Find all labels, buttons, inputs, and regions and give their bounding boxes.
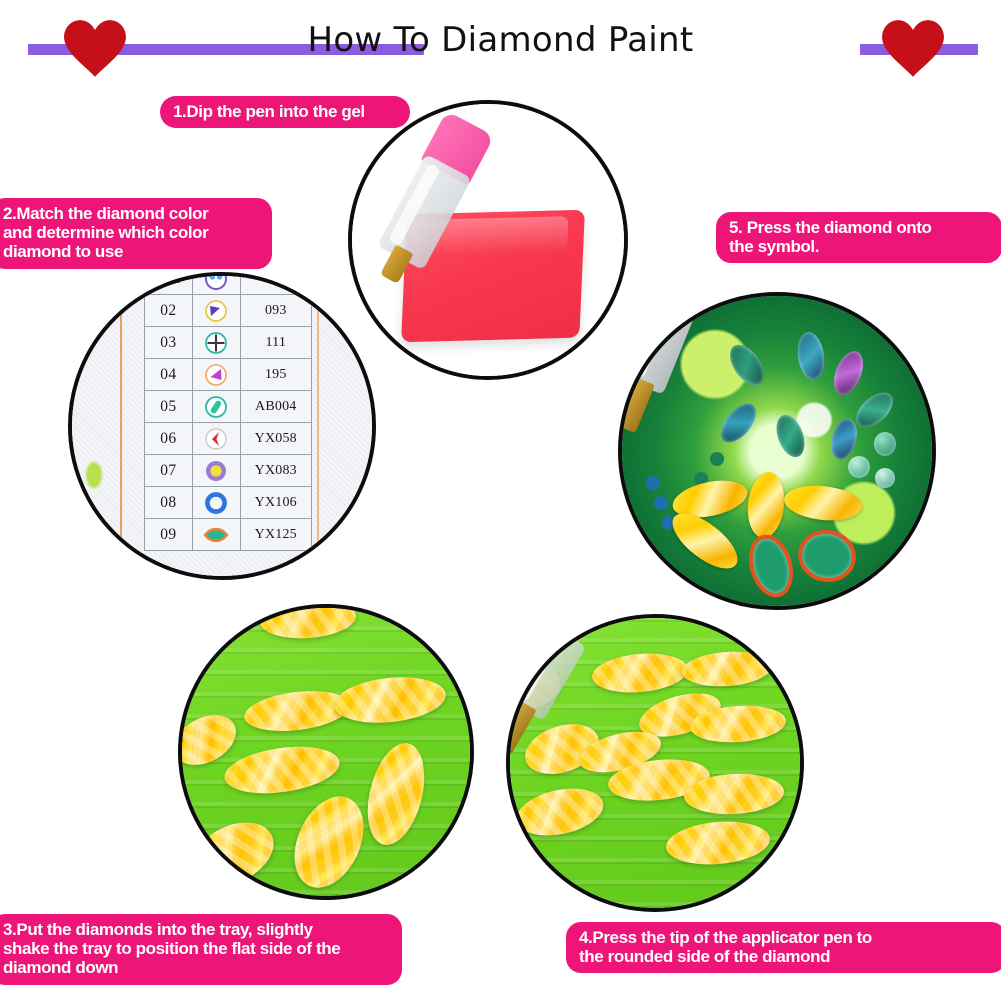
legend-code: YX125	[240, 519, 311, 551]
smiley-circle-symbol	[192, 272, 240, 295]
step-5-line-1: 5. Press the diamond onto	[729, 218, 989, 237]
legend-code: 195	[240, 359, 311, 391]
legend-code: 093	[240, 295, 311, 327]
diagonal-bar-in-circle-symbol	[192, 391, 240, 423]
rhinestone	[875, 468, 895, 488]
legend-code: YX083	[240, 455, 311, 487]
legend-index: 02x	[145, 272, 193, 295]
legend-index: 07	[145, 455, 193, 487]
rhinestone	[848, 456, 870, 478]
page-header: How To Diamond Paint	[0, 0, 1001, 86]
step-4-label: 4.Press the tip of the applicator pen to…	[566, 922, 1001, 973]
step-3-line-2: shake the tray to position the flat side…	[3, 939, 389, 958]
step-3-line-3: diamond down	[3, 958, 389, 977]
filled-donut-symbol	[192, 455, 240, 487]
printed-symbol-dot	[646, 476, 660, 490]
step-2-label: 2.Match the diamond color and determine …	[0, 198, 272, 269]
stray-diamond	[84, 522, 103, 541]
canvas-edge-line	[317, 276, 319, 576]
legend-code: 111	[240, 327, 311, 359]
table-row: 06 YX058	[145, 423, 312, 455]
yellow-diamond	[689, 703, 787, 746]
plus-in-circle-symbol	[192, 327, 240, 359]
step-4-line-1: 4.Press the tip of the applicator pen to	[579, 928, 993, 947]
step-2-line-1: 2.Match the diamond color	[3, 204, 259, 223]
step-2-line-3: diamond to use	[3, 242, 259, 261]
page-title: How To Diamond Paint	[0, 20, 1001, 60]
legend-code: 028	[240, 272, 311, 295]
step-3-label: 3.Put the diamonds into the tray, slight…	[0, 914, 402, 985]
left-chevron-symbol	[192, 423, 240, 455]
step-3-line-1: 3.Put the diamonds into the tray, slight…	[3, 920, 389, 939]
diamond-color-legend: 02x 028 02 093 03	[144, 272, 312, 551]
triangle-in-circle-symbol	[192, 295, 240, 327]
legend-index: 09	[145, 519, 193, 551]
legend-index: 04	[145, 359, 193, 391]
triangle-in-circle-symbol	[192, 359, 240, 391]
printed-symbol-dot	[654, 496, 668, 510]
diamonds-in-tray-photo	[178, 604, 474, 900]
printed-symbol-dot	[710, 452, 724, 466]
canvas-edge-line	[120, 276, 122, 576]
legend-index: 06	[145, 423, 193, 455]
pen-dipping-into-gel-photo	[348, 100, 628, 380]
legend-index: 05	[145, 391, 193, 423]
table-row: 05 AB004	[145, 391, 312, 423]
step-2-line-2: and determine which color	[3, 223, 259, 242]
table-row: 02 093	[145, 295, 312, 327]
ring-symbol	[192, 487, 240, 519]
step-4-line-2: the rounded side of the diamond	[579, 947, 993, 966]
yellow-diamond	[683, 771, 785, 816]
pen-metal-tip	[506, 701, 537, 756]
yellow-diamond	[681, 649, 773, 689]
placing-diamond-on-canvas-photo	[618, 292, 936, 610]
table-row: 09 YX125	[145, 519, 312, 551]
step-5-label: 5. Press the diamond onto the symbol.	[716, 212, 1001, 263]
legend-index: 08	[145, 487, 193, 519]
table-row: 04 195	[145, 359, 312, 391]
legend-code: YX058	[240, 423, 311, 455]
stray-diamond	[86, 462, 102, 488]
pen-metal-tip	[618, 378, 655, 433]
legend-code: AB004	[240, 391, 311, 423]
color-chart-photo: 02x 028 02 093 03	[68, 272, 376, 580]
table-row: 08 YX106	[145, 487, 312, 519]
step-5-line-2: the symbol.	[729, 237, 989, 256]
table-row: 03 111	[145, 327, 312, 359]
table-row: 07 YX083	[145, 455, 312, 487]
table-row: 02x 028	[145, 272, 312, 295]
pen-picking-diamond-photo	[506, 614, 804, 912]
leaf-symbol	[192, 519, 240, 551]
rhinestone	[874, 432, 896, 456]
legend-index: 03	[145, 327, 193, 359]
legend-code: YX106	[240, 487, 311, 519]
legend-index: 02	[145, 295, 193, 327]
